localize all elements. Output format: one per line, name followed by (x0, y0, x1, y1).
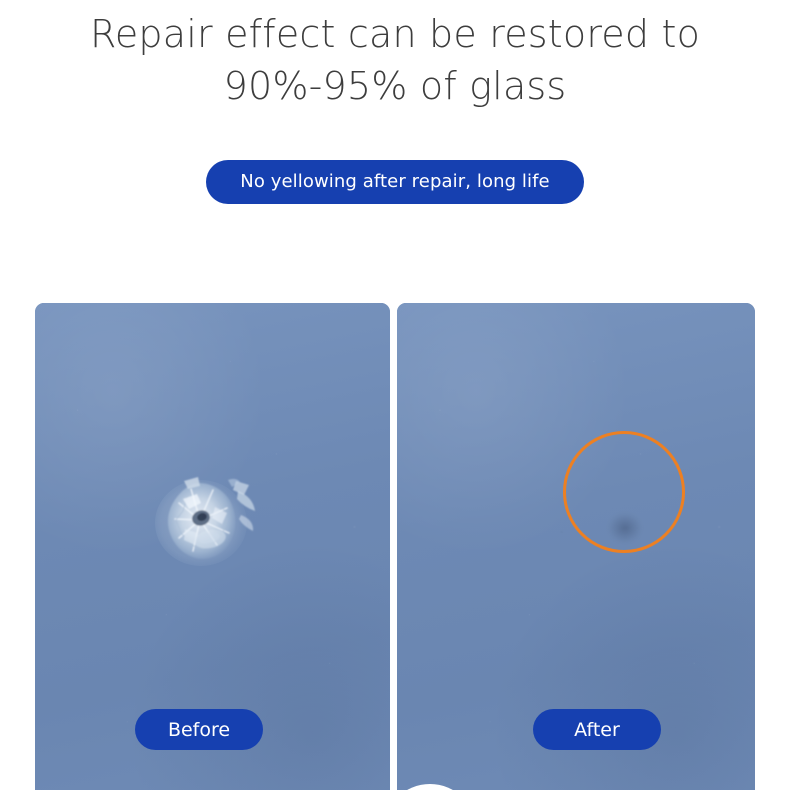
after-caption-pill: After (533, 709, 661, 750)
feature-badge: No yellowing after repair, long life (206, 160, 584, 204)
badge-container: No yellowing after repair, long life (0, 160, 790, 204)
headline-line-2: 90%-95% of glass (0, 60, 790, 112)
circle-highlight-icon (563, 431, 685, 553)
glass-chip-icon (143, 463, 273, 578)
promo-page: Repair effect can be restored to 90%-95%… (0, 0, 790, 790)
before-caption-pill: Before (135, 709, 263, 750)
page-title: Repair effect can be restored to 90%-95%… (0, 8, 790, 112)
headline-line-1: Repair effect can be restored to (0, 8, 790, 60)
